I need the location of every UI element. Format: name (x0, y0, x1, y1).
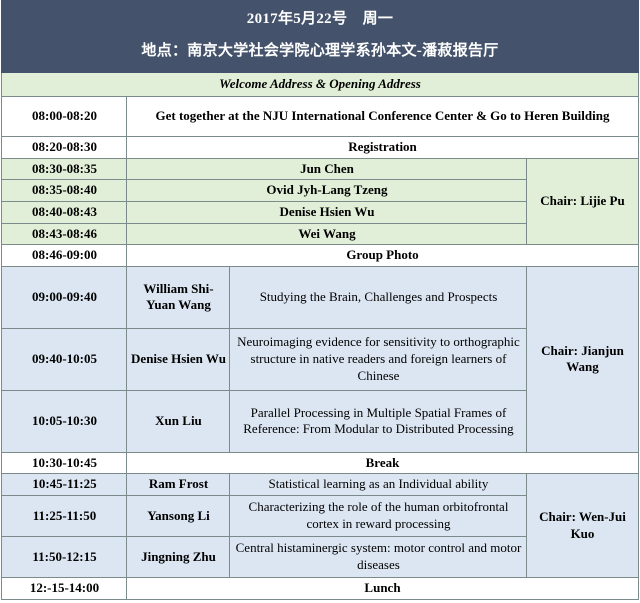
row-speaker: Denise Hsien Wu (127, 328, 230, 390)
schedule-row: 10:45-11:25 Ram Frost Statistical learni… (2, 474, 638, 496)
row-time: 08:30-08:35 (2, 158, 127, 180)
row-title: Parallel Processing in Multiple Spatial … (230, 390, 527, 452)
section-title-row: Welcome Address & Opening Address (2, 73, 638, 97)
row-title: Statistical learning as an Individual ab… (230, 474, 527, 496)
row-speaker: Jun Chen (127, 158, 527, 180)
row-time: 08:35-08:40 (2, 180, 127, 202)
schedule-row: 09:00-09:40 William Shi-Yuan Wang Studyi… (2, 266, 638, 328)
banner-cell: 2017年5月22号 周一 地点：南京大学社会学院心理学系孙本文-潘菽报告厅 (2, 1, 638, 73)
row-speaker: Wei Wang (127, 223, 527, 245)
section-title: Welcome Address & Opening Address (2, 73, 638, 97)
schedule-row: 12:-15-14:00 Lunch (2, 578, 638, 600)
row-speaker: Xun Liu (127, 390, 230, 452)
row-title: Studying the Brain, Challenges and Prosp… (230, 266, 527, 328)
row-title: Central histaminergic system: motor cont… (230, 537, 527, 578)
banner-row: 2017年5月22号 周一 地点：南京大学社会学院心理学系孙本文-潘菽报告厅 (2, 1, 638, 73)
schedule-row: 08:00-08:20 Get together at the NJU Inte… (2, 97, 638, 137)
row-time: 08:46-09:00 (2, 245, 127, 267)
row-title: Break (127, 452, 638, 474)
row-time: 10:30-10:45 (2, 452, 127, 474)
row-time: 08:00-08:20 (2, 97, 127, 137)
row-speaker: Ovid Jyh-Lang Tzeng (127, 180, 527, 202)
schedule-table: 2017年5月22号 周一 地点：南京大学社会学院心理学系孙本文-潘菽报告厅 W… (1, 0, 638, 600)
row-time: 12:-15-14:00 (2, 578, 127, 600)
row-time: 10:45-11:25 (2, 474, 127, 496)
row-title: Get together at the NJU International Co… (127, 97, 638, 137)
row-time: 11:50-12:15 (2, 537, 127, 578)
schedule-row: 10:30-10:45 Break (2, 452, 638, 474)
row-speaker: Jingning Zhu (127, 537, 230, 578)
schedule-row: 08:20-08:30 Registration (2, 137, 638, 159)
row-time: 08:43-08:46 (2, 223, 127, 245)
schedule-row: 08:46-09:00 Group Photo (2, 245, 638, 267)
row-title: Lunch (127, 578, 638, 600)
row-time: 08:20-08:30 (2, 137, 127, 159)
row-speaker: Yansong Li (127, 496, 230, 537)
row-chair: Chair: Lijie Pu (527, 158, 638, 245)
conference-date: 2017年5月22号 周一 (6, 10, 633, 42)
row-time: 11:25-11:50 (2, 496, 127, 537)
row-chair: Chair: Jianjun Wang (527, 266, 638, 452)
row-time: 09:00-09:40 (2, 266, 127, 328)
row-speaker: Ram Frost (127, 474, 230, 496)
row-speaker: William Shi-Yuan Wang (127, 266, 230, 328)
row-title: Characterizing the role of the human orb… (230, 496, 527, 537)
row-title: Neuroimaging evidence for sensitivity to… (230, 328, 527, 390)
row-title: Group Photo (127, 245, 638, 267)
row-time: 08:40-08:43 (2, 201, 127, 223)
row-time: 09:40-10:05 (2, 328, 127, 390)
schedule-table-body: 2017年5月22号 周一 地点：南京大学社会学院心理学系孙本文-潘菽报告厅 W… (2, 1, 638, 600)
conference-venue: 地点：南京大学社会学院心理学系孙本文-潘菽报告厅 (6, 42, 633, 61)
row-time: 10:05-10:30 (2, 390, 127, 452)
row-speaker: Denise Hsien Wu (127, 201, 527, 223)
row-title: Registration (127, 137, 638, 159)
conference-schedule-page: 2017年5月22号 周一 地点：南京大学社会学院心理学系孙本文-潘菽报告厅 W… (0, 0, 640, 603)
row-chair: Chair: Wen-Jui Kuo (527, 474, 638, 578)
schedule-row: 08:30-08:35 Jun Chen Chair: Lijie Pu (2, 158, 638, 180)
